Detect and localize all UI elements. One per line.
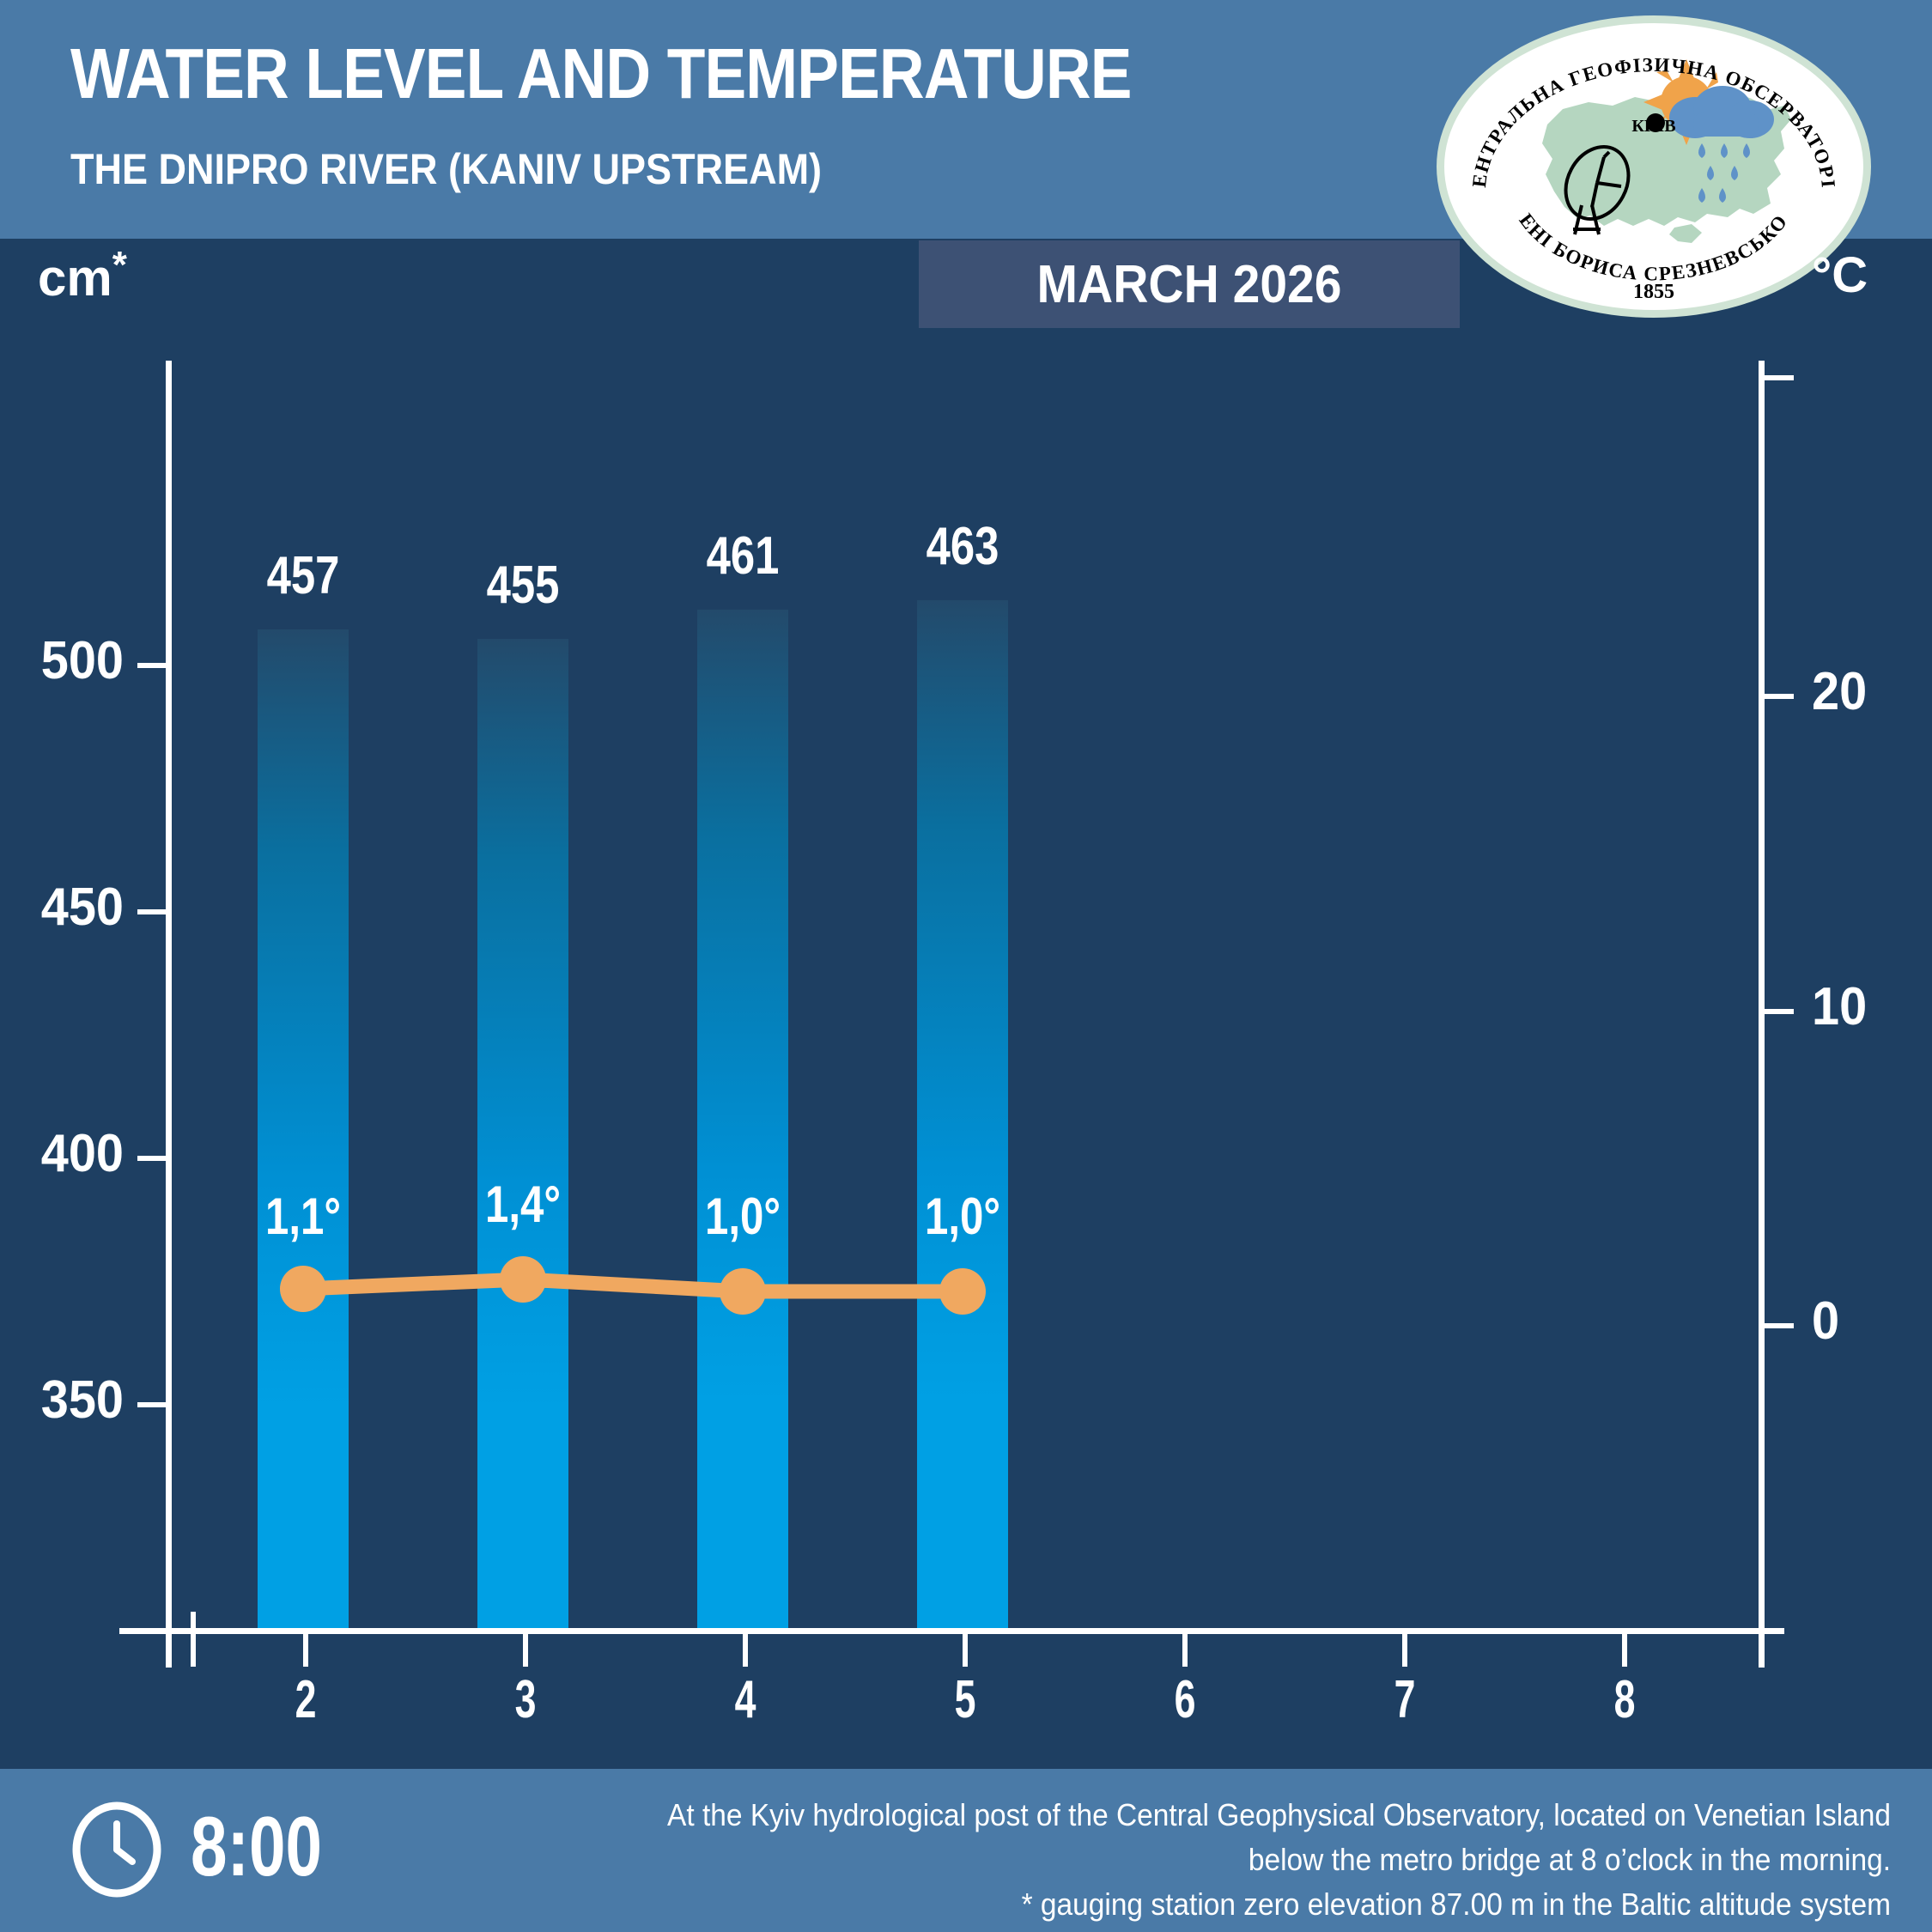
crimea-shape — [1669, 224, 1702, 243]
left-axis-unit-text: cm — [38, 249, 112, 307]
left-axis-unit: cm* — [38, 244, 127, 307]
temperature-value-label: 1,0° — [665, 1187, 820, 1246]
temperature-point-day-3[interactable] — [500, 1256, 546, 1303]
clock-icon — [70, 1801, 163, 1898]
month-banner: MARCH 2026 — [919, 240, 1460, 328]
infographic-root: WATER LEVEL AND TEMPERATURE THE DNIPRO R… — [0, 0, 1932, 1932]
temperature-line — [0, 328, 1932, 1769]
left-axis-unit-asterisk: * — [112, 244, 127, 286]
page-subtitle: THE DNIPRO RIVER (KANIV UPSTREAM) — [70, 144, 822, 194]
footer-notes: At the Kyiv hydrological post of the Cen… — [645, 1793, 1891, 1928]
logo-graphic: ЦЕНТРАЛЬНА ГЕОФІЗИЧНА ОБСЕРВАТОРІЯ ІМЕНІ… — [1444, 23, 1863, 310]
month-label: MARCH 2026 — [940, 254, 1438, 315]
logo-kyiv-text: КИЇВ — [1631, 116, 1675, 136]
right-axis-unit: °C — [1812, 246, 1868, 304]
footer-banner: 8:00 At the Kyiv hydrological post of th… — [0, 1769, 1932, 1932]
temperature-polyline — [303, 1279, 963, 1291]
temperature-point-day-5[interactable] — [939, 1268, 986, 1315]
temperature-point-day-2[interactable] — [280, 1266, 326, 1312]
temperature-value-label: 1,1° — [226, 1187, 380, 1246]
footer-note-line-2: below the metro bridge at 8 o’clock in t… — [645, 1838, 1891, 1882]
temperature-point-day-4[interactable] — [720, 1268, 766, 1315]
footer-note-line-3: * gauging station zero elevation 87.00 m… — [645, 1882, 1891, 1927]
footer-note-line-1: At the Kyiv hydrological post of the Cen… — [645, 1793, 1891, 1838]
observatory-logo: ЦЕНТРАЛЬНА ГЕОФІЗИЧНА ОБСЕРВАТОРІЯ ІМЕНІ… — [1437, 15, 1871, 318]
logo-year: 1855 — [1633, 281, 1674, 303]
temperature-value-label: 1,0° — [885, 1187, 1040, 1246]
temperature-value-label: 1,4° — [446, 1175, 600, 1234]
chart-plot-area: WATER LEVEL WATER TEMPERATURE cm* °C 500… — [0, 328, 1932, 1769]
page-title: WATER LEVEL AND TEMPERATURE — [70, 33, 1132, 115]
observation-time: 8:00 — [191, 1798, 322, 1895]
